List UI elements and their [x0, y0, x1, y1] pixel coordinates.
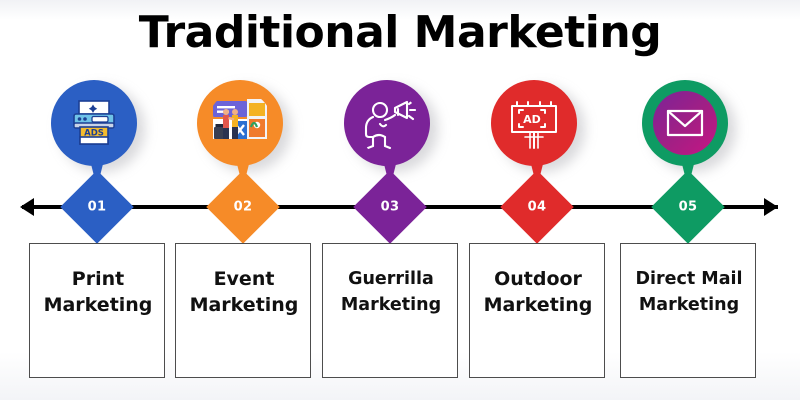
step-label-2: Event Marketing	[176, 266, 312, 318]
megaphone-person-icon	[355, 91, 419, 155]
timeline-step-4[interactable]: AD 04 Outdoor Marketing	[462, 0, 612, 400]
step-label-5-line1: Direct Mail	[635, 269, 742, 289]
timeline-step-3[interactable]: 03 Guerrilla Marketing	[315, 0, 465, 400]
infographic-canvas: Traditional Marketing ADS	[0, 0, 800, 400]
step-label-3: Guerrilla Marketing	[323, 266, 459, 318]
step-label-3-line1: Guerrilla	[348, 269, 434, 289]
event-booth-icon	[208, 91, 272, 155]
step-label-box-4[interactable]: Outdoor Marketing	[469, 243, 605, 378]
step-number-4: 04	[528, 200, 547, 215]
step-label-5: Direct Mail Marketing	[621, 266, 757, 318]
step-number-5: 05	[679, 200, 698, 215]
step-number-3: 03	[381, 200, 400, 215]
timeline-step-1[interactable]: ADS 01 Print Marketing	[22, 0, 172, 400]
step-label-3-line2: Marketing	[341, 295, 441, 315]
timeline-step-2[interactable]: 02 Event Marketing	[168, 0, 318, 400]
step-number-2: 02	[234, 200, 253, 215]
step-label-2-line1: Event	[214, 268, 275, 290]
right-arrow-icon	[764, 198, 778, 216]
billboard-ad-icon: AD	[502, 91, 566, 155]
timeline-step-5[interactable]: 05 Direct Mail Marketing	[613, 0, 763, 400]
step-label-5-line2: Marketing	[639, 295, 739, 315]
step-label-box-3[interactable]: Guerrilla Marketing	[322, 243, 458, 378]
step-label-1: Print Marketing	[30, 266, 166, 318]
svg-text:AD: AD	[523, 113, 541, 126]
step-label-4: Outdoor Marketing	[470, 266, 606, 318]
step-label-2-line2: Marketing	[190, 294, 299, 316]
step-label-box-2[interactable]: Event Marketing	[175, 243, 311, 378]
step-label-box-1[interactable]: Print Marketing	[29, 243, 165, 378]
step-number-1: 01	[88, 200, 107, 215]
step-label-1-line2: Marketing	[44, 294, 153, 316]
step-label-1-line1: Print	[72, 268, 124, 290]
step-label-4-line2: Marketing	[484, 294, 593, 316]
envelope-icon	[653, 91, 717, 155]
svg-text:ADS: ADS	[84, 129, 104, 139]
step-label-box-5[interactable]: Direct Mail Marketing	[620, 243, 756, 378]
printer-ads-icon: ADS	[62, 91, 126, 155]
step-label-4-line1: Outdoor	[494, 268, 582, 290]
